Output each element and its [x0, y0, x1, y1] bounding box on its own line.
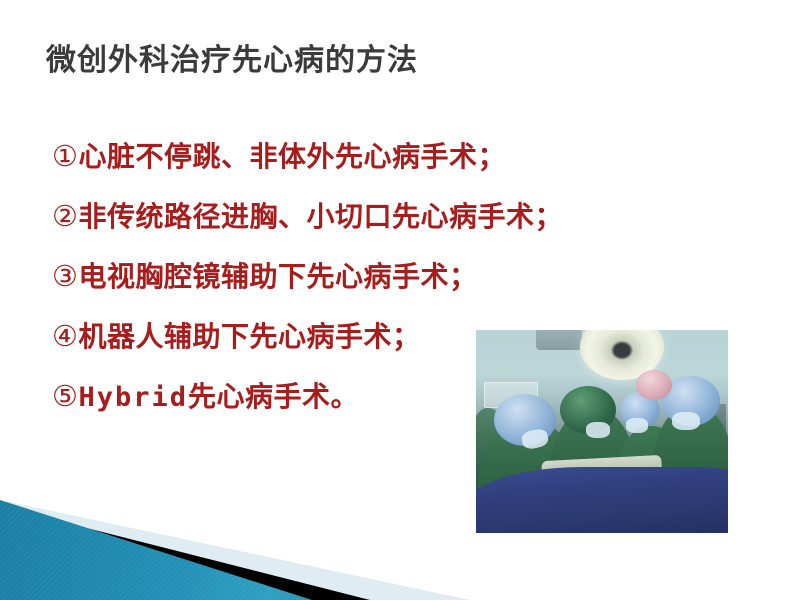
list-marker-4: ④: [52, 319, 79, 353]
list-marker-2: ②: [52, 199, 79, 233]
surgical-cap-5: [636, 370, 672, 400]
list-text-5: 先心病手术。: [188, 380, 359, 413]
sterile-drape-blue: [476, 467, 728, 533]
list-marker-5: ⑤: [52, 379, 79, 413]
deco-band-black: [0, 500, 500, 600]
corner-decoration: [0, 500, 500, 600]
surgical-mask-4: [672, 412, 700, 430]
body-line-3: ③电视胸腔镜辅助下先心病手术；: [52, 248, 712, 308]
body-line-2: ②非传统路径进胸、小切口先心病手术；: [52, 188, 712, 248]
body-line-1: ①心脏不停跳、非体外先心病手术；: [52, 128, 712, 188]
surgical-mask-3: [626, 418, 648, 433]
lamp-arm: [536, 330, 582, 350]
list-latin-5: Hybrid: [79, 382, 189, 413]
presentation-slide: 微创外科治疗先心病的方法 ①心脏不停跳、非体外先心病手术； ②非传统路径进胸、小…: [0, 0, 800, 600]
list-text-3: 电视胸腔镜辅助下先心病手术；: [79, 260, 478, 293]
deco-band-light: [0, 500, 500, 600]
list-marker-1: ①: [52, 139, 79, 173]
deco-band-teal: [0, 500, 500, 600]
surgical-mask-2: [586, 422, 610, 438]
slide-title: 微创外科治疗先心病的方法: [46, 42, 746, 80]
list-text-4: 机器人辅助下先心病手术；: [79, 320, 421, 353]
list-marker-3: ③: [52, 259, 79, 293]
surgery-photo: [476, 330, 728, 533]
list-text-2: 非传统路径进胸、小切口先心病手术；: [79, 200, 564, 233]
list-text-1: 心脏不停跳、非体外先心病手术；: [79, 140, 507, 173]
photo-content: [476, 330, 728, 533]
